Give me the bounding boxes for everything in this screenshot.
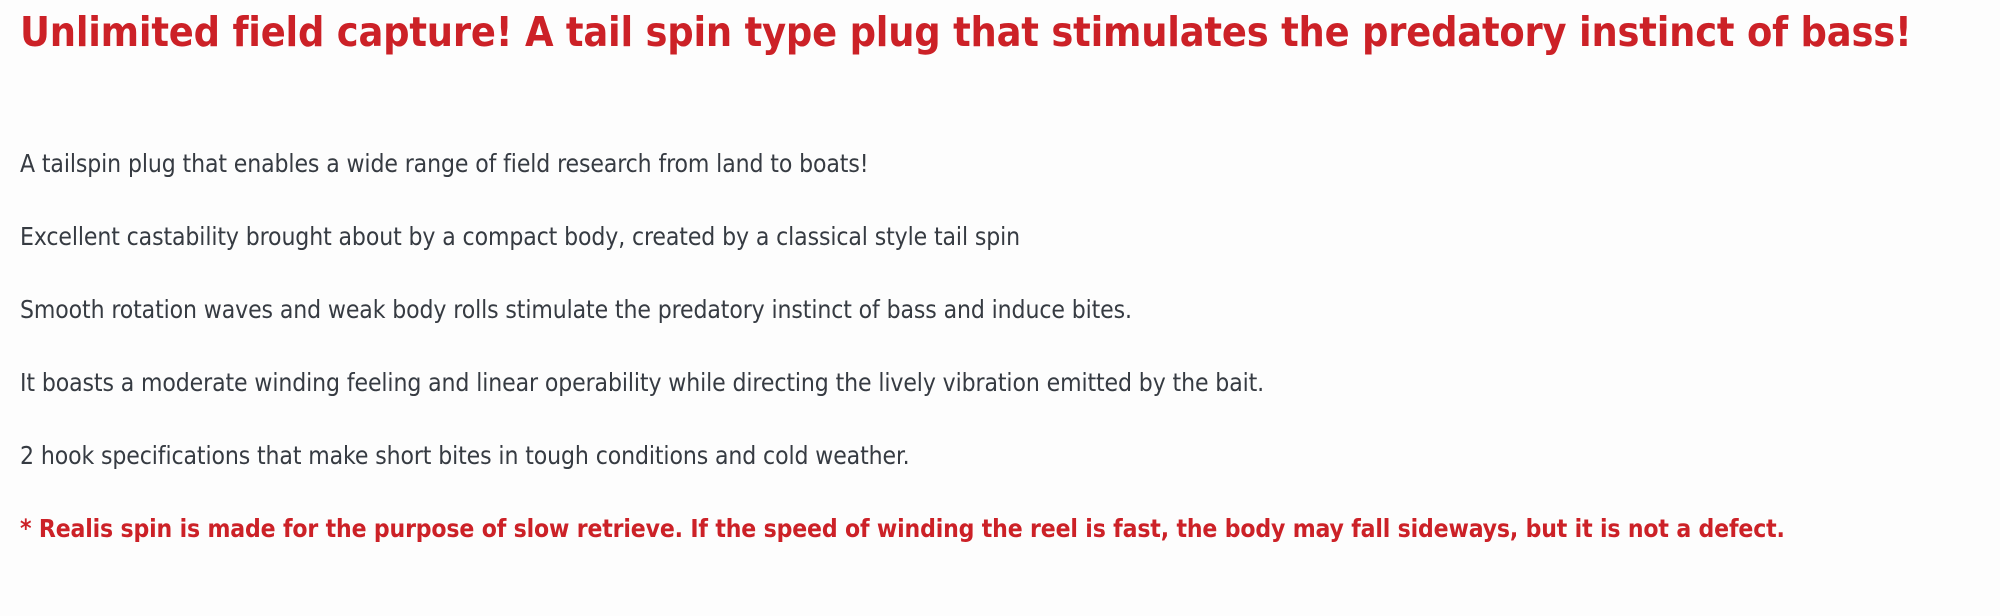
description-body: A tailspin plug that enables a wide rang… — [20, 150, 1978, 588]
description-line: Smooth rotation waves and weak body roll… — [20, 296, 1978, 369]
description-line: It boasts a moderate winding feeling and… — [20, 369, 1978, 442]
page-title: Unlimited field capture! A tail spin typ… — [20, 2, 1978, 63]
disclaimer-note: * Realis spin is made for the purpose of… — [20, 515, 1978, 588]
description-line: A tailspin plug that enables a wide rang… — [20, 150, 1978, 223]
description-line: Excellent castability brought about by a… — [20, 223, 1978, 296]
description-line: 2 hook specifications that make short bi… — [20, 442, 1978, 515]
product-description-page: Unlimited field capture! A tail spin typ… — [0, 0, 2000, 616]
